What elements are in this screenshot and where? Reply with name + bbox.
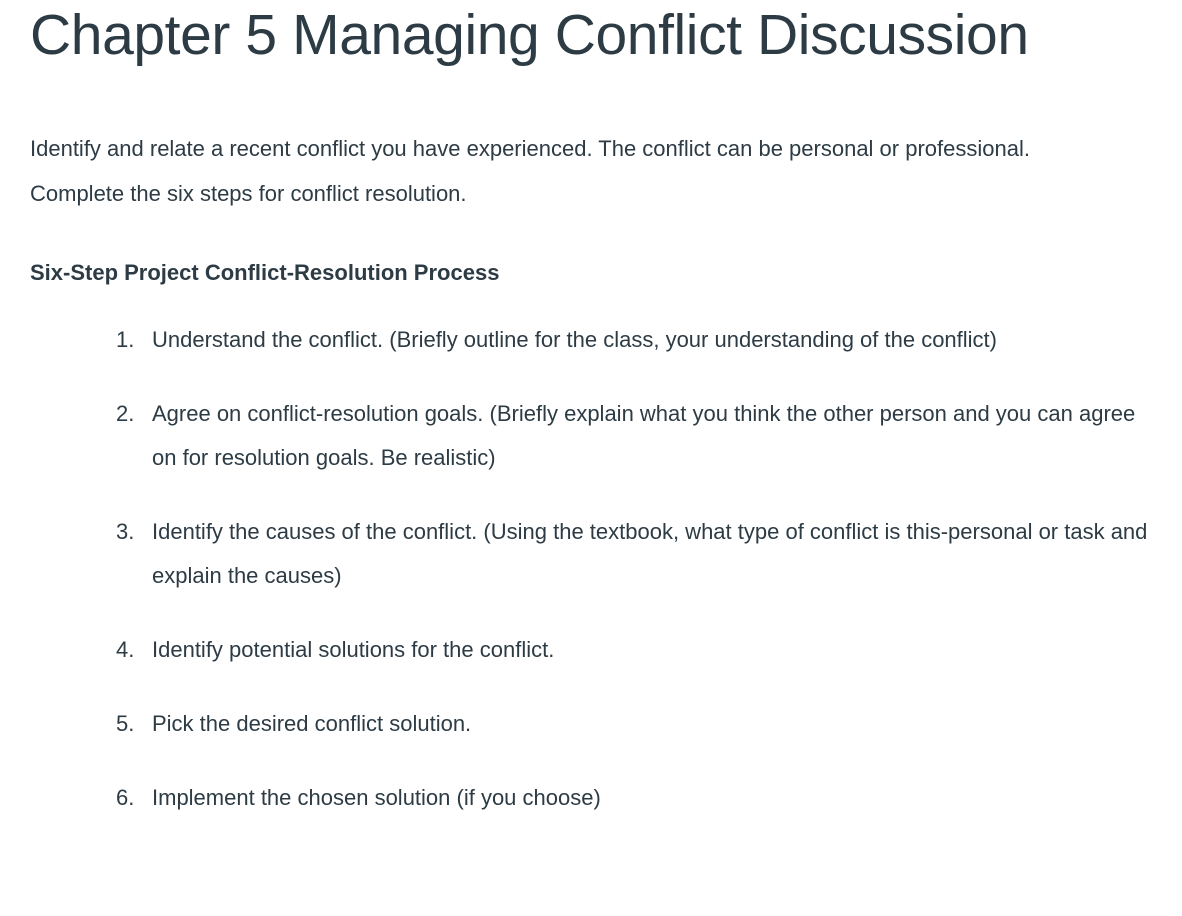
list-item-text: Pick the desired conflict solution. bbox=[152, 702, 1152, 746]
page-title: Chapter 5 Managing Conflict Discussion bbox=[30, 0, 1152, 66]
document-page: Chapter 5 Managing Conflict Discussion I… bbox=[0, 0, 1182, 916]
intro-paragraph: Identify and relate a recent conflict yo… bbox=[30, 66, 1120, 216]
section-heading: Six-Step Project Conflict-Resolution Pro… bbox=[30, 216, 1152, 288]
list-item: Understand the conflict. (Briefly outlin… bbox=[30, 318, 1152, 362]
list-item-text: Identify the causes of the conflict. (Us… bbox=[152, 510, 1152, 598]
list-item: Implement the chosen solution (if you ch… bbox=[30, 776, 1152, 820]
list-item: Pick the desired conflict solution. bbox=[30, 702, 1152, 746]
list-item-text: Implement the chosen solution (if you ch… bbox=[152, 776, 1152, 820]
steps-list: Understand the conflict. (Briefly outlin… bbox=[30, 288, 1152, 820]
list-item-text: Understand the conflict. (Briefly outlin… bbox=[152, 318, 1152, 362]
list-item: Identify potential solutions for the con… bbox=[30, 628, 1152, 672]
list-item-text: Agree on conflict-resolution goals. (Bri… bbox=[152, 392, 1152, 480]
list-item: Identify the causes of the conflict. (Us… bbox=[30, 510, 1152, 598]
list-item-text: Identify potential solutions for the con… bbox=[152, 628, 1152, 672]
list-item: Agree on conflict-resolution goals. (Bri… bbox=[30, 392, 1152, 480]
